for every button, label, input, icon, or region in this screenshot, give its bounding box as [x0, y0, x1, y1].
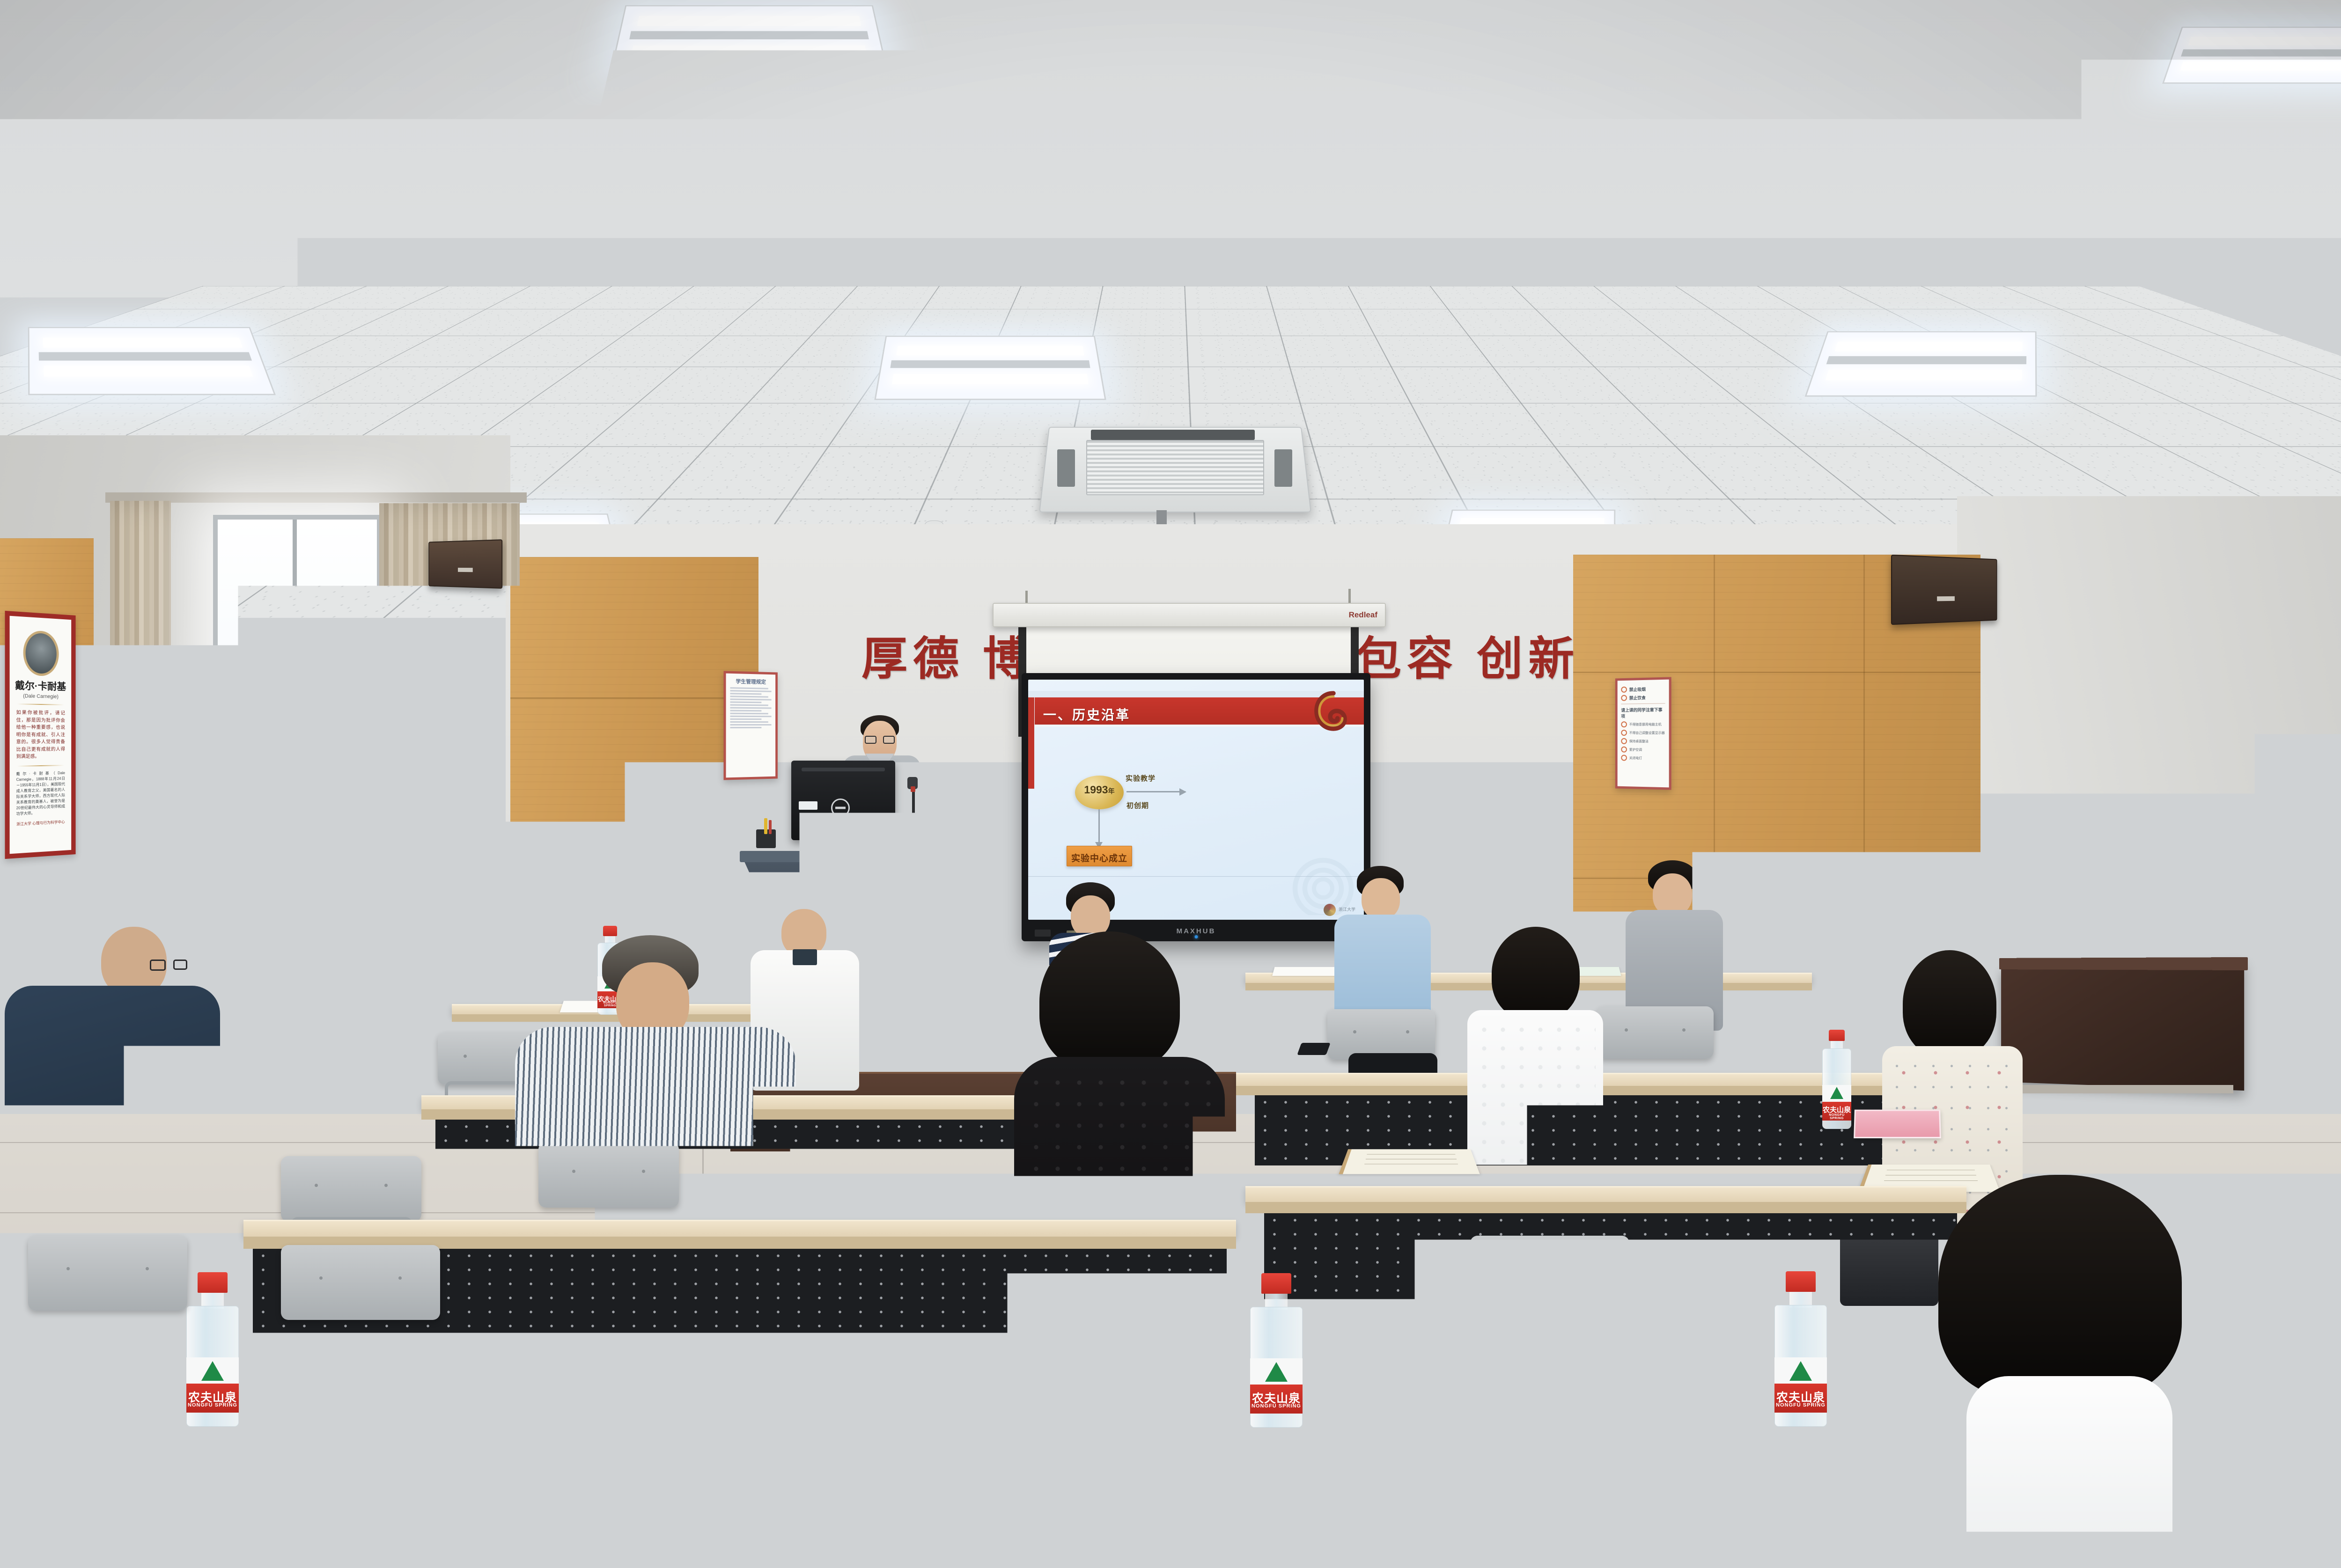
light-bulb-icon — [1621, 755, 1627, 761]
chair-empty-6[interactable] — [1451, 1114, 1592, 1180]
poster-name-cn: 戴尔·卡耐基 — [15, 678, 67, 693]
poster-org: 浙江大学 心理与行为科学中心 — [15, 819, 67, 827]
foreground-table-body — [0, 1428, 1910, 1568]
projection-screen-casing: Redleaf — [993, 603, 1386, 627]
footer-logo-icon — [1324, 904, 1336, 916]
dell-logo-icon — [831, 799, 850, 817]
air-conditioner-grille — [1086, 440, 1264, 495]
monitor-icon — [1621, 730, 1627, 736]
speaker-right — [1891, 555, 1997, 625]
slide-down-arrow-icon — [1098, 809, 1100, 845]
chair-empty-11[interactable] — [1470, 1236, 1629, 1311]
slide-arrow-icon — [1126, 791, 1185, 792]
curtain-right[interactable] — [379, 503, 520, 1088]
pen-yellow — [764, 818, 767, 834]
rule-item-5: 关闭电灯 — [1629, 755, 1642, 760]
bottle-brand-en: NONGFU SPRING — [1822, 1114, 1851, 1120]
foreground-table — [0, 1399, 1910, 1428]
av-desk-leg-left — [569, 881, 573, 984]
speaker-left — [428, 539, 502, 589]
water-bottle-6[interactable]: 农夫山泉 NONGFU SPRING — [1774, 1271, 1827, 1427]
bottle-brand-en: NONGFU SPRING — [1250, 1403, 1303, 1409]
table-row-3-left-edge — [452, 1014, 756, 1022]
podium — [742, 857, 953, 913]
display-brand-label: MAXHUB — [1177, 927, 1216, 935]
portrait-icon — [23, 630, 59, 676]
no-eating-icon — [1621, 695, 1627, 701]
footer-org-label: 浙江大学 — [1339, 908, 1355, 912]
podium-top-surface — [740, 851, 955, 862]
water-bottle-4[interactable]: 农夫山泉 NONGFU SPRING — [636, 1269, 690, 1427]
desk-icon — [1621, 738, 1627, 744]
bottle-brand-en: NONGFU SPRING — [1774, 1402, 1827, 1408]
asset-tag-label — [799, 801, 817, 810]
chair-empty-8[interactable] — [28, 1236, 187, 1311]
chair-empty-2[interactable] — [1327, 1009, 1435, 1060]
ceiling-light-4 — [874, 336, 1106, 400]
poster-notice-title: 学生管理规定 — [729, 677, 773, 686]
rule-2-label: 禁止饮食 — [1629, 695, 1646, 701]
glasses-icon — [150, 960, 187, 972]
slide-callout-text: 实验中心成立 — [1067, 851, 1132, 864]
corner-cabinet — [2001, 960, 2244, 1091]
display-power-led — [1194, 935, 1198, 938]
air-conditioner-side-vent-right — [1274, 449, 1292, 487]
water-bottle-3[interactable]: 农夫山泉 NONGFU SPRING — [186, 1272, 239, 1427]
poster-notice: 学生管理规定 — [723, 671, 777, 780]
bottle-brand-cn: 农夫山泉 — [1822, 1105, 1851, 1114]
window[interactable] — [213, 515, 382, 908]
screen-brand-label: Redleaf — [1349, 610, 1377, 620]
rule-item-4: 爱护空调 — [1629, 747, 1642, 752]
slide-label-bottom: 初创期 — [1126, 800, 1149, 810]
poster-bio: 戴尔·卡耐基（Dale Carnegie，1888年11月24日－1955年11… — [15, 770, 67, 817]
slide-label-top: 实验教学 — [1126, 773, 1156, 783]
poster-classroom-rules: 禁止吸烟 禁止饮食 请上课的同学注意下事项 不得随意挪用电脑主机 不得自己调整设… — [1615, 677, 1671, 790]
no-smoking-icon — [1621, 687, 1627, 693]
slide-title: 一、历史沿革 — [1043, 705, 1130, 724]
rule-item-3: 保持桌面整洁 — [1629, 739, 1649, 743]
window-sill — [206, 903, 391, 916]
ceiling-light-3 — [28, 327, 276, 396]
ceiling-light-5 — [1805, 331, 2037, 397]
bottle-brand-en: NONGFU SPRING — [186, 1402, 239, 1408]
glasses-icon — [865, 736, 895, 744]
chair-empty-10[interactable] — [1082, 1250, 1241, 1325]
air-conditioner-side-vent-left — [1057, 449, 1075, 487]
chair-empty-3[interactable] — [1597, 1006, 1714, 1059]
chair-empty-9[interactable] — [281, 1245, 440, 1320]
divider — [17, 765, 64, 767]
rule-1-label: 禁止吸烟 — [1629, 686, 1646, 693]
name-card-text: 工商管理 — [1857, 1114, 1939, 1137]
slide-year: 1993年 — [1075, 784, 1124, 796]
water-bottle-5[interactable]: 农夫山泉 NONGFU SPRING — [1250, 1273, 1303, 1428]
ceiling-light-2 — [2162, 27, 2341, 84]
ceiling-light-1 — [610, 5, 889, 73]
corner-cabinet-top — [1999, 957, 2248, 970]
table-row-1-right-edge — [1245, 1202, 1966, 1213]
computer-icon — [1621, 721, 1627, 727]
microphone-indicator — [911, 786, 915, 792]
pen-red — [769, 820, 772, 834]
university-logo-icon — [1313, 691, 1354, 731]
microphone-stem — [912, 783, 915, 853]
air-conditioner-icon — [1621, 747, 1627, 753]
corner-cabinet-base — [1990, 1085, 2233, 1093]
rule-item-2: 不得自己调整设置显示器 — [1629, 730, 1665, 735]
av-keyboard[interactable] — [558, 872, 617, 878]
wall-slogan-right: 包容 创新 — [1355, 622, 1580, 688]
classroom-scene: 厚德 博学 包容 创新 戴尔·卡耐基 (Dale Carnegie) 如果你被批… — [0, 0, 2341, 1568]
poster-quote: 如果你被批评，请记住，那是因为批评你会给他一种重要感，也说明你是有成就、引人注意… — [15, 709, 67, 761]
air-conditioner-vent-slot — [1091, 430, 1255, 440]
display-ir-sensor — [1035, 930, 1051, 937]
chair-empty-4[interactable] — [281, 1156, 421, 1222]
presentation-slide: 一、历史沿革 1993年 实验教学 初创期 实验中心成立 浙江大学 — [1028, 680, 1364, 920]
poster-name-en: (Dale Carnegie) — [15, 693, 67, 700]
poster-dale-carnegie: 戴尔·卡耐基 (Dale Carnegie) 如果你被批评，请记住，那是因为批评… — [5, 611, 75, 859]
table-row-1-right — [1245, 1186, 1966, 1202]
water-bottle-2[interactable]: 农夫山泉 NONGFU SPRING — [1822, 1030, 1851, 1129]
rule-item-1: 不得随意挪用电脑主机 — [1629, 722, 1662, 726]
rules-section-heading: 请上课的同学注意下事项 — [1621, 706, 1665, 719]
mobile-phone[interactable] — [1297, 1043, 1330, 1055]
bottle-brand-en: NONGFU SPRING — [636, 1403, 690, 1408]
divider — [17, 703, 64, 705]
slide-left-accent — [1028, 697, 1034, 789]
chair-empty-7[interactable] — [1667, 1109, 1807, 1175]
